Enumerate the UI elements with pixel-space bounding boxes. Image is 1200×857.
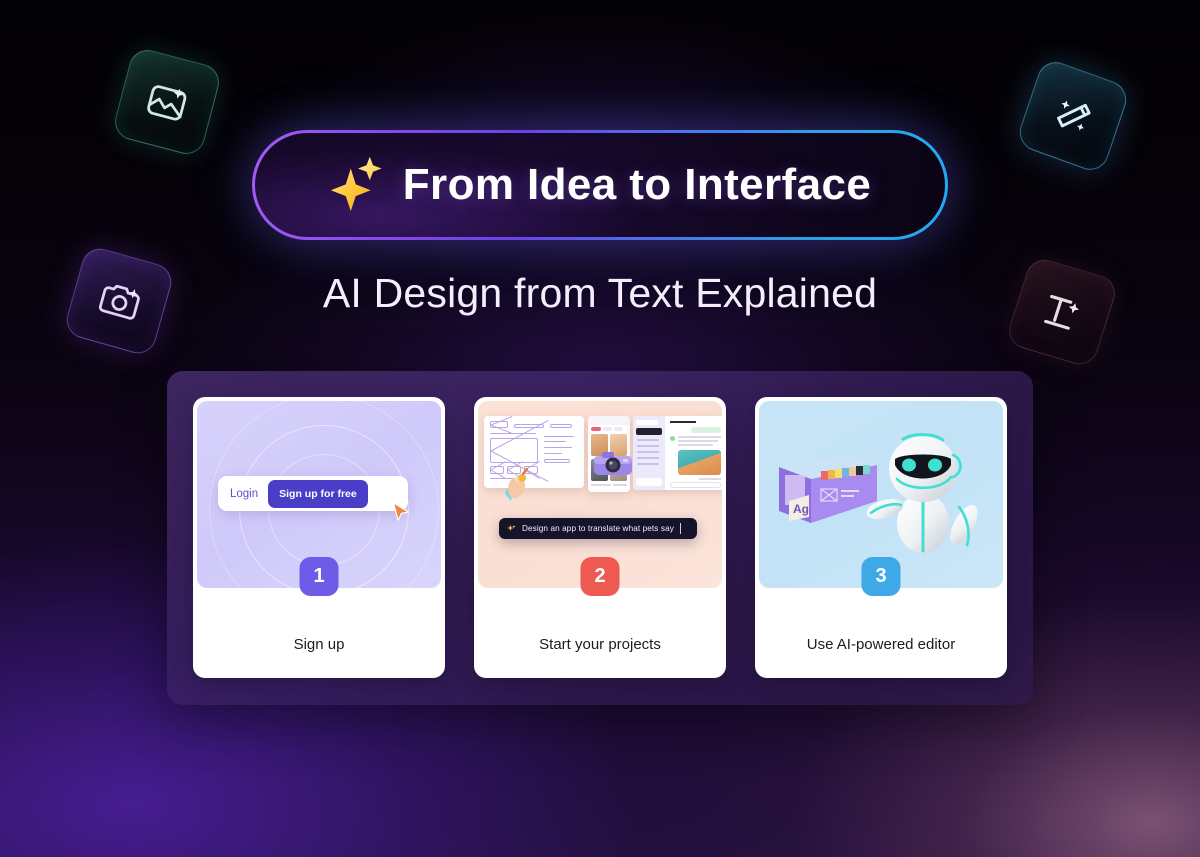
step-card-signup[interactable]: Login Sign up for free 1 Sign up — [193, 397, 445, 678]
text-caret — [680, 523, 681, 534]
cursor-icon — [391, 501, 411, 523]
login-button[interactable]: Login — [230, 488, 258, 500]
prompt-input[interactable]: Design an app to translate what pets say — [499, 518, 697, 539]
wireframe-mockup — [484, 416, 584, 488]
sparkle-icon — [329, 154, 387, 212]
step-label: Sign up — [193, 588, 445, 678]
page-subtitle: AI Design from Text Explained — [0, 270, 1200, 317]
step-number-badge: 2 — [581, 557, 620, 596]
step-card-projects[interactable]: Design an app to translate what pets say… — [474, 397, 726, 678]
image-sparkle-icon — [111, 46, 223, 158]
camera-3d-icon — [590, 449, 636, 479]
magic-wand-icon — [1015, 57, 1131, 175]
page-title: From Idea to Interface — [403, 160, 871, 210]
signup-free-button[interactable]: Sign up for free — [268, 480, 368, 508]
step-label: Use AI-powered editor — [755, 588, 1007, 678]
svg-text:Ag: Ag — [793, 502, 809, 516]
step-label: Start your projects — [474, 588, 726, 678]
hand-icon — [500, 461, 534, 503]
step-number-badge: 1 — [300, 557, 339, 596]
hero-title-pill: From Idea to Interface — [252, 130, 948, 240]
steps-panel: Login Sign up for free 1 Sign up — [167, 371, 1033, 705]
hero-banner: From Idea to Interface AI Design from Te… — [0, 0, 1200, 857]
robot-3d-icon — [863, 425, 983, 555]
dashboard-mockup — [633, 416, 722, 490]
auth-pill: Login Sign up for free — [218, 476, 408, 511]
step-number-badge: 3 — [862, 557, 901, 596]
sparkle-icon — [507, 524, 516, 533]
prompt-text: Design an app to translate what pets say — [522, 524, 674, 533]
step-card-editor[interactable]: Ag — [755, 397, 1007, 678]
